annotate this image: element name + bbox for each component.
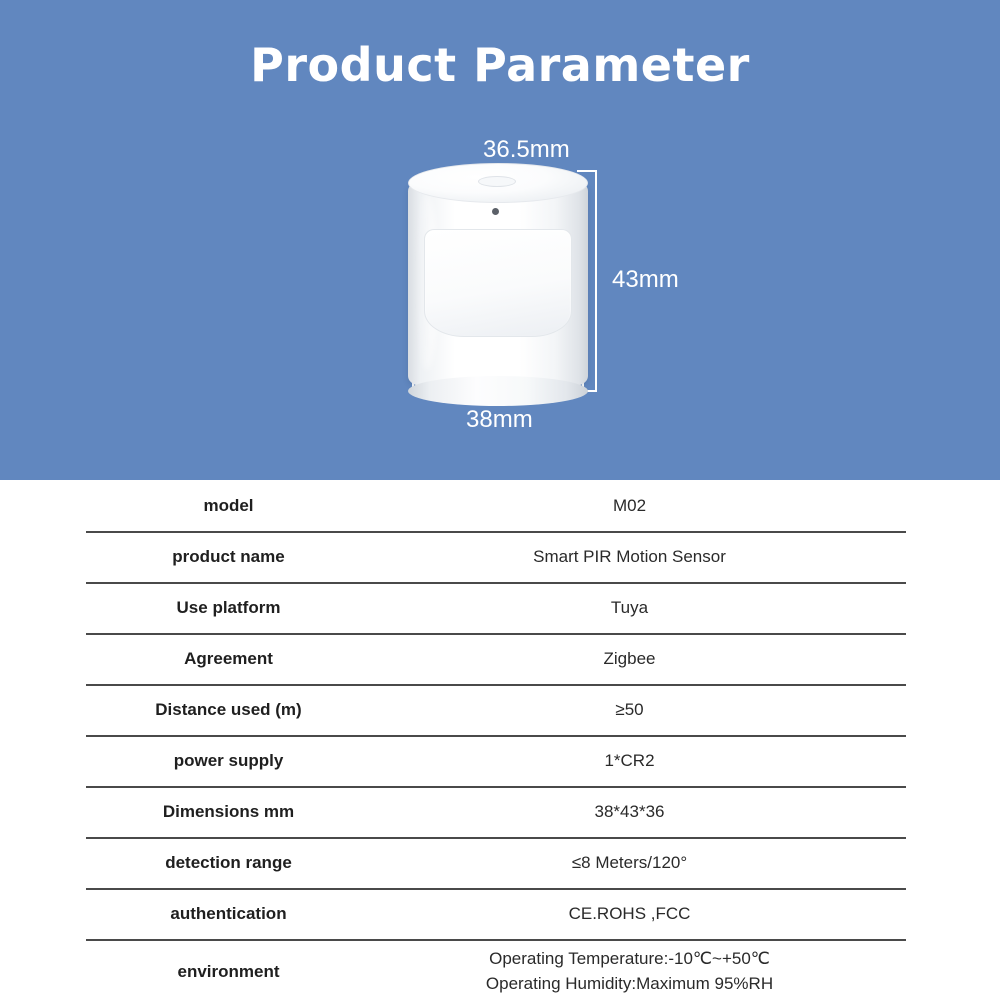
table-row: authentication CE.ROHS ,FCC — [86, 890, 906, 941]
table-row: Use platform Tuya — [86, 584, 906, 635]
spec-value: ≤8 Meters/120° — [371, 851, 906, 876]
spec-value: CE.ROHS ,FCC — [371, 902, 906, 927]
table-row: model M02 — [86, 482, 906, 533]
spec-value: Tuya — [371, 596, 906, 621]
spec-value: ≥50 — [371, 698, 906, 723]
dimension-label-depth: 36.5mm — [483, 136, 570, 164]
spec-label: Use platform — [86, 597, 371, 619]
spec-label: Dimensions mm — [86, 801, 371, 823]
product-image-pir-sensor — [408, 163, 588, 395]
spec-label: environment — [86, 961, 371, 983]
device-top-slot-icon — [478, 176, 516, 187]
table-row: power supply 1*CR2 — [86, 737, 906, 788]
product-parameter-page: Product Parameter 36.5mm — [0, 0, 1000, 1000]
table-row: Dimensions mm 38*43*36 — [86, 788, 906, 839]
spec-label: product name — [86, 546, 371, 568]
spec-label: power supply — [86, 750, 371, 772]
table-row: Distance used (m) ≥50 — [86, 686, 906, 737]
spec-label: authentication — [86, 903, 371, 925]
spec-label: Agreement — [86, 648, 371, 670]
spec-value-line: Operating Temperature:-10℃~+50℃ — [371, 947, 888, 972]
spec-value: Smart PIR Motion Sensor — [371, 545, 906, 570]
spec-value: M02 — [371, 494, 906, 519]
spec-label: Distance used (m) — [86, 699, 371, 721]
dimension-label-width: 38mm — [466, 406, 533, 434]
specification-table: model M02 product name Smart PIR Motion … — [86, 482, 906, 1000]
dimension-label-height: 43mm — [612, 266, 679, 294]
device-bottom-cap — [408, 376, 588, 406]
table-row: Agreement Zigbee — [86, 635, 906, 686]
spec-value: Operating Temperature:-10℃~+50℃ Operatin… — [371, 947, 906, 996]
spec-value: 1*CR2 — [371, 749, 906, 774]
spec-value: Zigbee — [371, 647, 906, 672]
table-row: product name Smart PIR Motion Sensor — [86, 533, 906, 584]
spec-label: detection range — [86, 852, 371, 874]
device-led-indicator-icon — [492, 208, 499, 215]
table-row: detection range ≤8 Meters/120° — [86, 839, 906, 890]
page-title: Product Parameter — [0, 38, 1000, 92]
table-row: environment Operating Temperature:-10℃~+… — [86, 941, 906, 1000]
hero-banner: Product Parameter 36.5mm — [0, 0, 1000, 480]
spec-label: model — [86, 495, 371, 517]
spec-value: 38*43*36 — [371, 800, 906, 825]
device-pir-lens — [424, 229, 572, 337]
spec-value-line: Operating Humidity:Maximum 95%RH — [371, 972, 888, 997]
